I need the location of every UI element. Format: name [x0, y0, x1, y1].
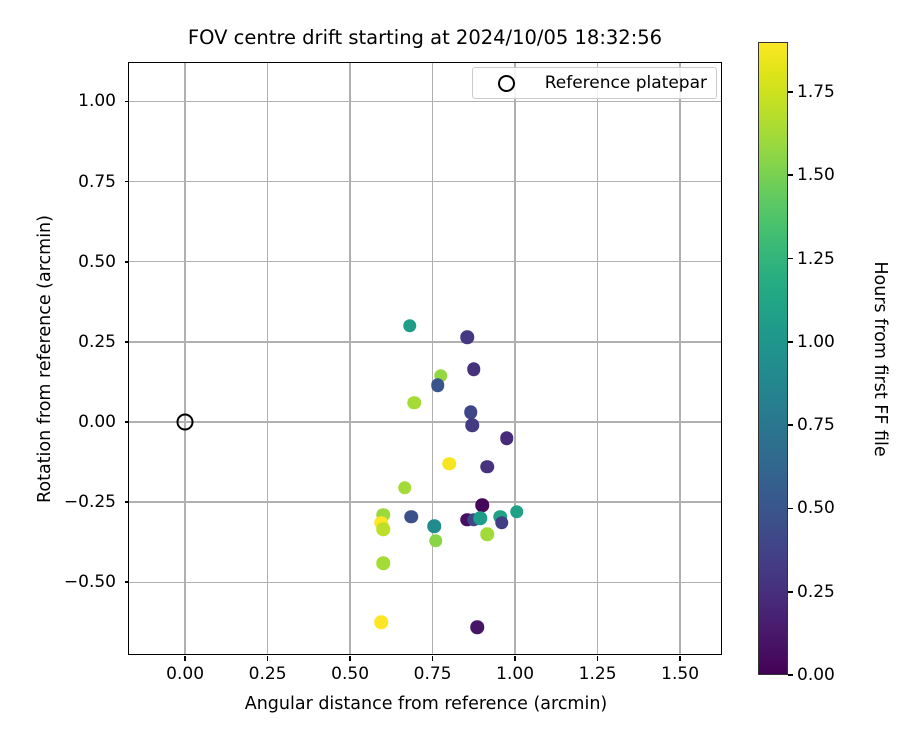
x-tick	[184, 656, 186, 661]
x-tick	[597, 656, 599, 661]
colorbar-tick	[788, 674, 793, 676]
y-tick-label: 0.25	[78, 332, 116, 352]
colorbar-tick-label: 0.00	[797, 665, 835, 685]
y-tick	[125, 421, 130, 423]
reference-platepar-marker-icon	[498, 75, 515, 92]
x-tick	[349, 656, 351, 661]
scatter-point	[461, 330, 475, 344]
x-axis-label: Angular distance from reference (arcmin)	[129, 694, 723, 714]
x-gridline	[267, 63, 268, 654]
x-gridline	[514, 63, 515, 654]
scatter-point	[495, 516, 509, 530]
x-tick-label: 0.25	[249, 664, 287, 684]
y-gridline	[129, 181, 721, 182]
colorbar-tick	[788, 174, 793, 176]
scatter-point	[429, 534, 443, 548]
figure: FOV centre drift starting at 2024/10/05 …	[0, 0, 900, 750]
plot-axes: Reference platepar Angular distance from…	[128, 62, 722, 655]
x-tick-label: 0.00	[166, 664, 204, 684]
x-tick-label: 0.50	[331, 664, 369, 684]
colorbar-tick-label: 1.75	[797, 82, 835, 102]
colorbar-tick-label: 0.75	[797, 415, 835, 435]
legend-label-reference-platepar: Reference platepar	[545, 73, 707, 93]
scatter-point	[376, 556, 390, 570]
plot-area	[129, 63, 721, 654]
colorbar-tick	[788, 91, 793, 93]
scatter-point	[475, 499, 489, 513]
scatter-point	[474, 511, 488, 525]
colorbar-tick-label: 1.50	[797, 165, 835, 185]
y-tick-label: 0.00	[78, 412, 116, 432]
scatter-point	[442, 457, 456, 471]
y-tick	[125, 501, 130, 503]
scatter-point	[480, 527, 494, 541]
colorbar-tick-label: 0.25	[797, 582, 835, 602]
y-tick-label: 1.00	[78, 91, 116, 111]
scatter-point	[431, 378, 445, 392]
chart-title: FOV centre drift starting at 2024/10/05 …	[0, 26, 850, 49]
reference-platepar-point	[177, 414, 194, 431]
scatter-point	[376, 523, 390, 537]
x-tick-label: 1.50	[661, 664, 699, 684]
y-gridline	[129, 421, 721, 422]
scatter-point	[467, 362, 481, 376]
x-tick	[432, 656, 434, 661]
colorbar-tick	[788, 258, 793, 260]
colorbar-tick-label: 1.00	[797, 332, 835, 352]
x-tick	[679, 656, 681, 661]
x-tick-label: 1.25	[579, 664, 617, 684]
y-tick	[125, 581, 130, 583]
colorbar-tick-label: 1.25	[797, 249, 835, 269]
y-tick	[125, 181, 130, 183]
colorbar-tick	[788, 341, 793, 343]
y-tick-label: 0.50	[78, 252, 116, 272]
colorbar: Hours from first FF file 0.000.250.500.7…	[758, 42, 788, 675]
y-tick-label: −0.50	[64, 572, 116, 592]
scatter-point	[470, 620, 484, 634]
x-tick-label: 0.75	[414, 664, 452, 684]
scatter-point	[464, 406, 478, 420]
scatter-point	[404, 510, 418, 524]
scatter-point	[408, 396, 422, 410]
scatter-point	[500, 431, 514, 445]
scatter-point	[480, 460, 494, 474]
colorbar-tick	[788, 591, 793, 593]
colorbar-tick	[788, 508, 793, 510]
scatter-point	[403, 319, 417, 333]
colorbar-tick-label: 0.50	[797, 498, 835, 518]
y-gridline	[129, 582, 721, 583]
scatter-point	[428, 519, 442, 533]
scatter-point	[398, 481, 412, 495]
x-gridline	[349, 63, 350, 654]
x-gridline	[432, 63, 433, 654]
colorbar-gradient	[758, 42, 788, 675]
scatter-point	[510, 505, 524, 519]
y-tick	[125, 101, 130, 103]
colorbar-tick	[788, 424, 793, 426]
y-tick-label: −0.25	[64, 492, 116, 512]
y-gridline	[129, 501, 721, 502]
x-gridline	[679, 63, 680, 654]
scatter-point	[465, 418, 479, 432]
y-tick-label: 0.75	[78, 172, 116, 192]
y-gridline	[129, 101, 721, 102]
x-tick	[514, 656, 516, 661]
y-tick	[125, 261, 130, 263]
x-tick	[267, 656, 269, 661]
scatter-point	[375, 616, 389, 630]
x-gridline	[184, 63, 185, 654]
y-gridline	[129, 261, 721, 262]
x-tick-label: 1.00	[496, 664, 534, 684]
y-tick	[125, 341, 130, 343]
colorbar-label: Hours from first FF file	[870, 261, 890, 456]
x-gridline	[597, 63, 598, 654]
y-axis-label: Rotation from reference (arcmin)	[35, 215, 55, 503]
legend: Reference platepar	[472, 67, 717, 99]
y-gridline	[129, 341, 721, 342]
